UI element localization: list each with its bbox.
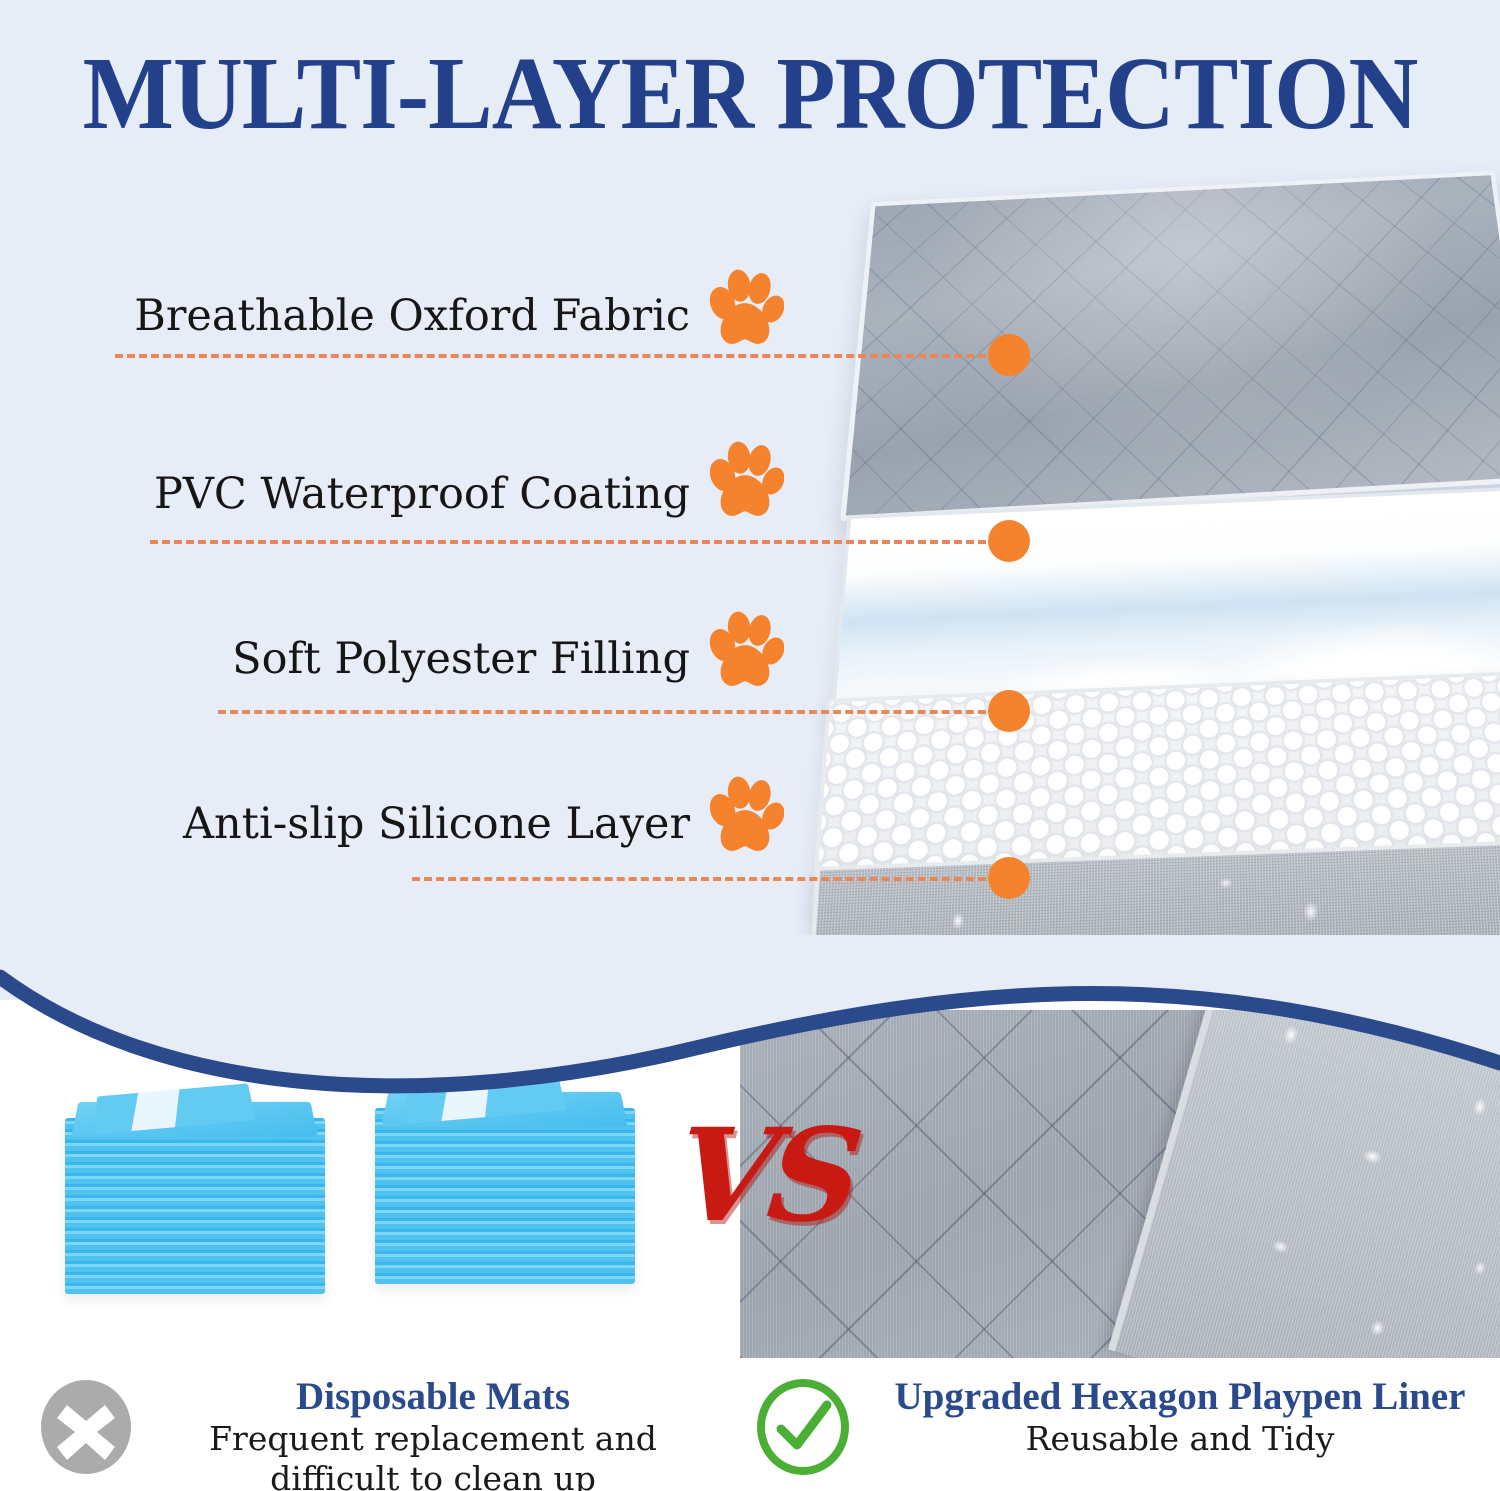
comparison-section: VS Disposable Mats Frequent replacement … bbox=[0, 1000, 1500, 1491]
disposable-pad-stack bbox=[65, 1090, 325, 1305]
page-title: MULTI-LAYER PROTECTION bbox=[53, 38, 1448, 150]
paw-print-icon bbox=[706, 610, 784, 692]
leader-line-polyester bbox=[218, 710, 1010, 714]
waterproof-backing-fold bbox=[1108, 1010, 1500, 1358]
vs-badge: VS bbox=[671, 1112, 860, 1240]
callout-label-silicone: Anti-slip Silicone Layer bbox=[130, 800, 690, 848]
top-section: MULTI-LAYER PROTECTION Breathable Oxford… bbox=[0, 0, 1500, 1060]
leader-line-pvc bbox=[150, 540, 1010, 544]
callout-label-pvc: PVC Waterproof Coating bbox=[90, 470, 690, 518]
connector-dot-polyester bbox=[988, 690, 1030, 732]
comparison-left-title: Disposable Mats bbox=[148, 1375, 718, 1419]
connector-dot-silicone bbox=[988, 857, 1030, 899]
playpen-liner-fabric-photo bbox=[740, 1010, 1500, 1358]
callout-label-oxford: Breathable Oxford Fabric bbox=[90, 292, 690, 340]
connector-dot-oxford bbox=[988, 334, 1030, 376]
comparison-left-subtitle-line1: Frequent replacement and bbox=[148, 1419, 718, 1459]
paw-print-icon bbox=[706, 268, 784, 350]
x-mark-circle-icon bbox=[38, 1377, 134, 1477]
infographic-page: MULTI-LAYER PROTECTION Breathable Oxford… bbox=[0, 0, 1500, 1491]
comparison-right-title: Upgraded Hexagon Playpen Liner bbox=[865, 1375, 1495, 1419]
layer-stack-illustration bbox=[830, 160, 1500, 1010]
comparison-left-subtitle-line2: difficult to clean up bbox=[148, 1459, 718, 1491]
check-mark-circle-icon bbox=[755, 1377, 851, 1477]
paw-print-icon bbox=[706, 440, 784, 522]
comparison-right-text: Upgraded Hexagon Playpen Liner Reusable … bbox=[865, 1375, 1495, 1459]
connector-dot-pvc bbox=[988, 520, 1030, 562]
paw-print-icon bbox=[706, 775, 784, 857]
comparison-left-text: Disposable Mats Frequent replacement and… bbox=[148, 1375, 718, 1491]
leader-line-oxford bbox=[115, 354, 1010, 358]
leader-line-silicone bbox=[412, 877, 1010, 881]
callout-label-polyester: Soft Polyester Filling bbox=[190, 635, 690, 683]
comparison-right-subtitle-line1: Reusable and Tidy bbox=[865, 1419, 1495, 1459]
pad-stack-body bbox=[65, 1118, 325, 1294]
disposable-pad-stack bbox=[375, 1080, 635, 1305]
pad-stack-body bbox=[375, 1108, 635, 1284]
oxford-fabric-layer-image bbox=[840, 171, 1500, 521]
